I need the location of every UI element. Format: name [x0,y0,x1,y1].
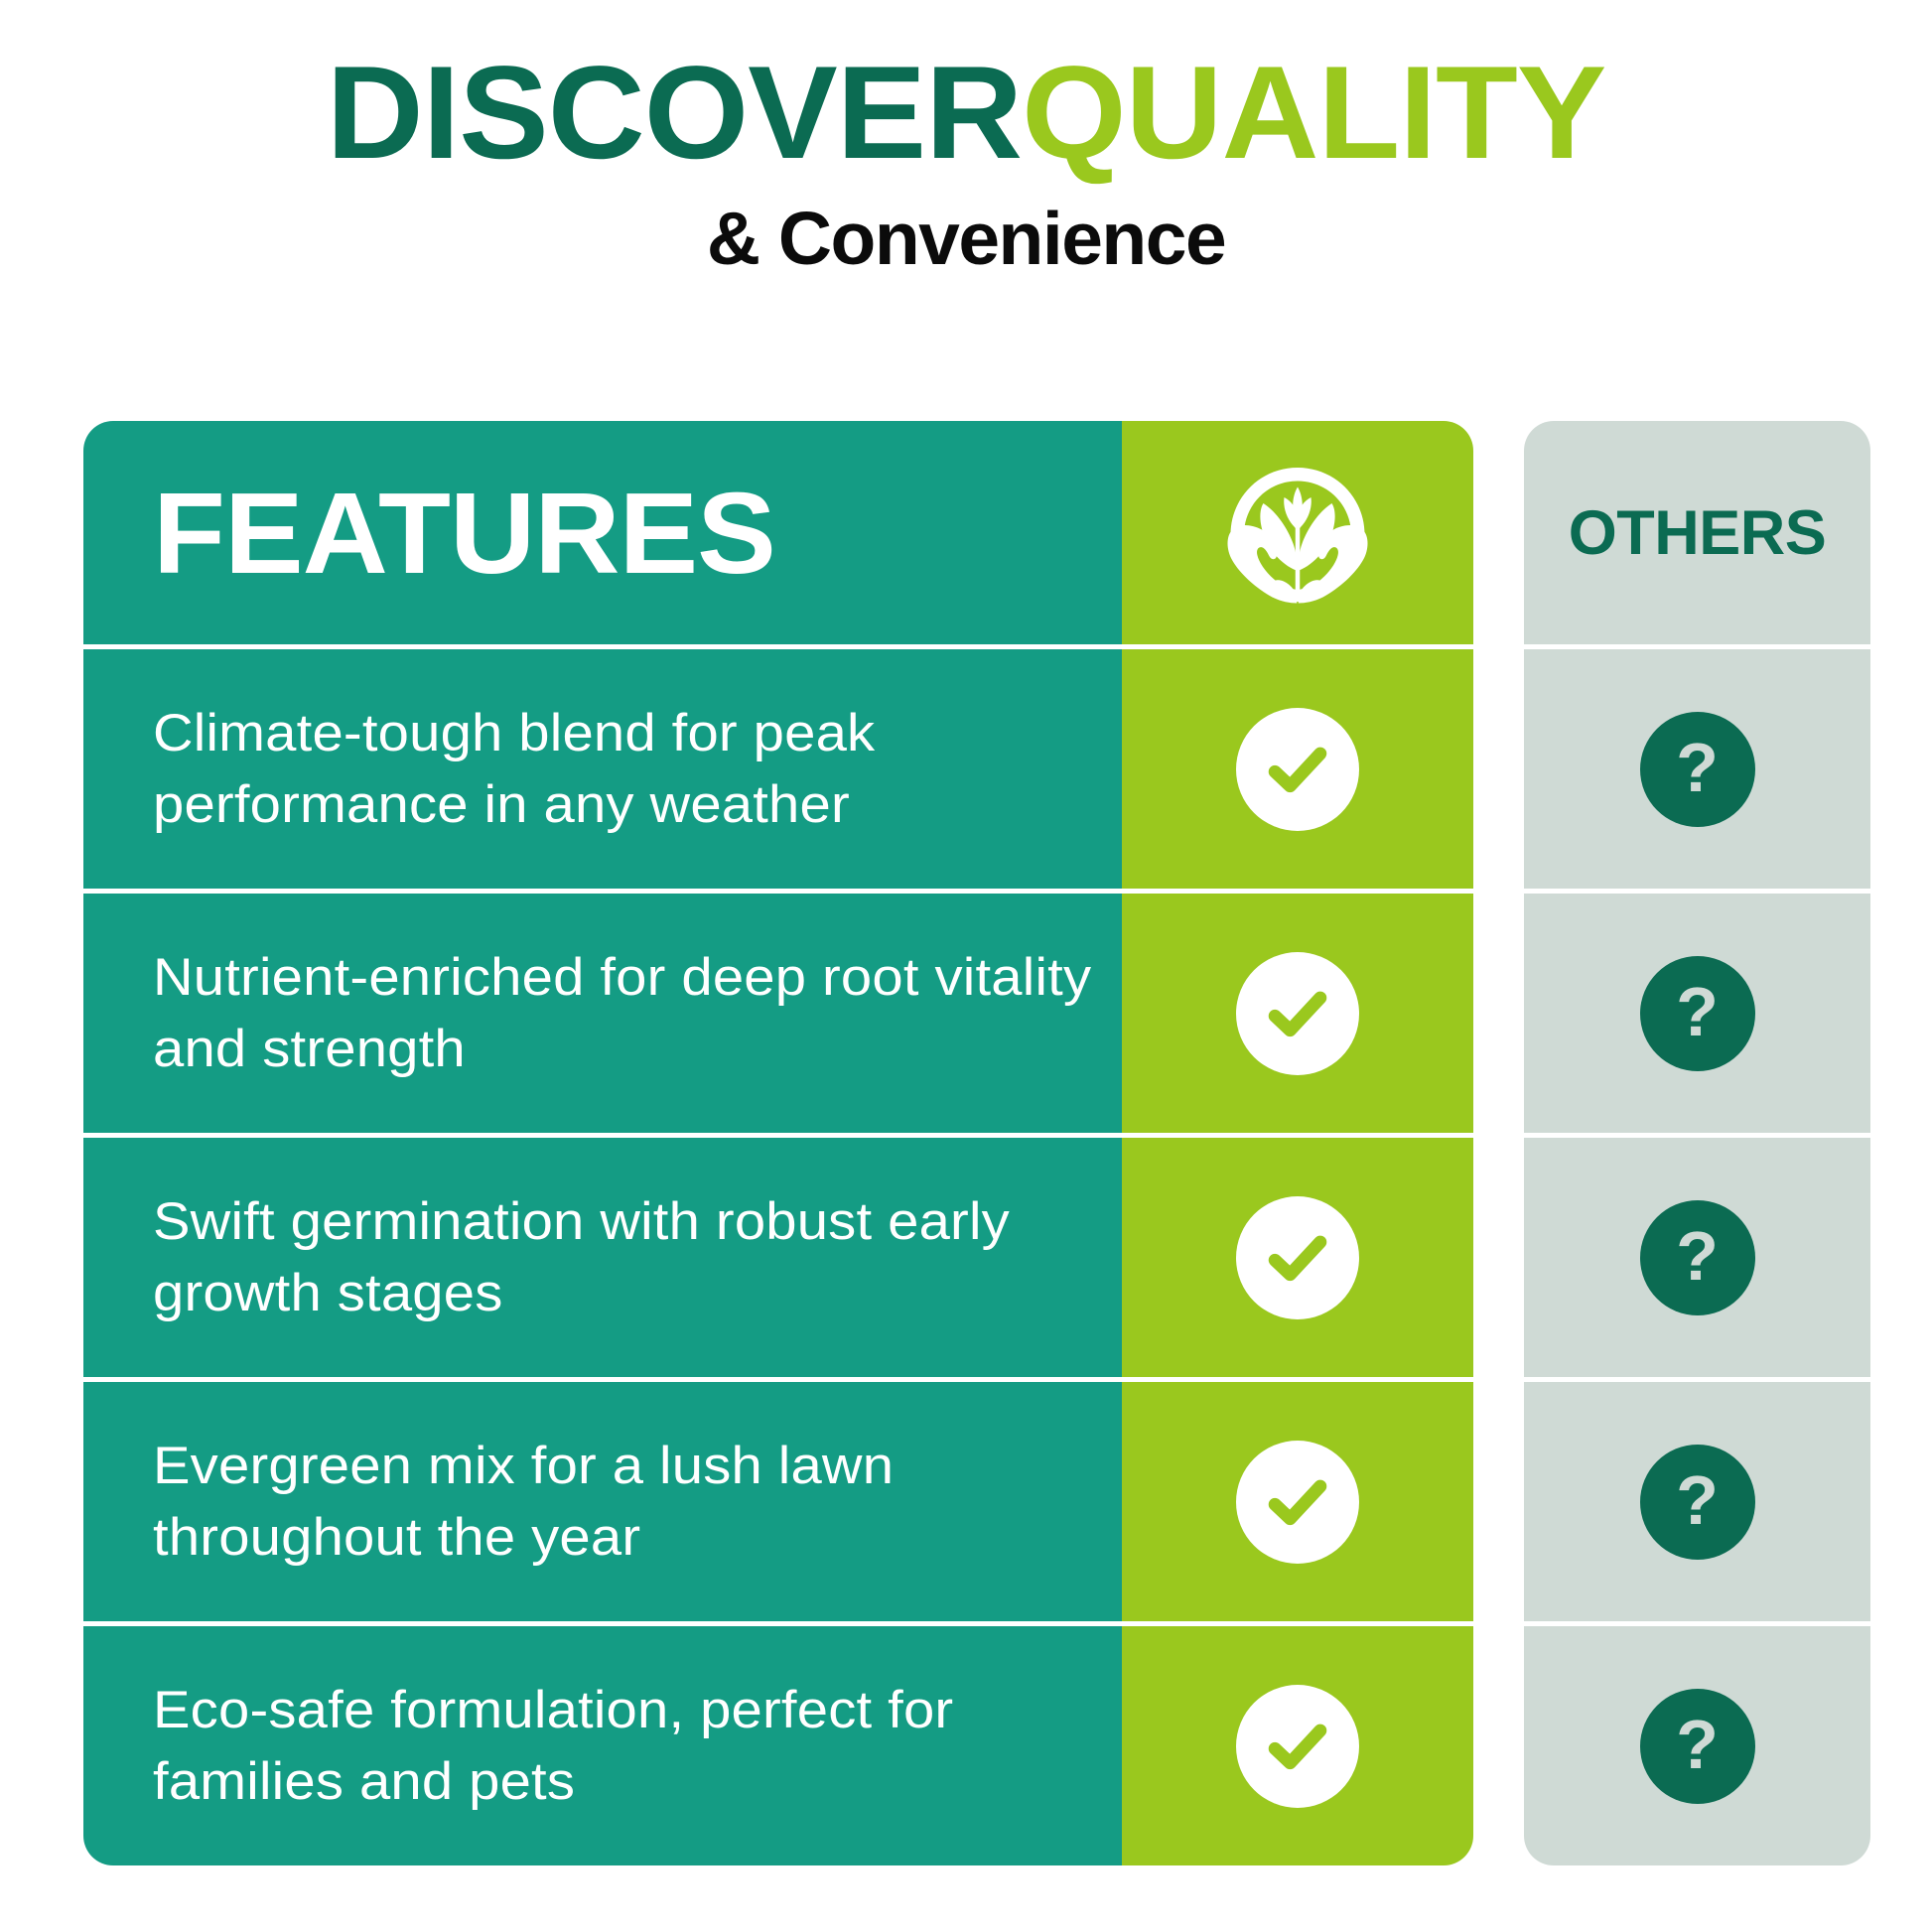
feature-row-4: Evergreen mix for a lush lawn throughout… [83,1377,1122,1621]
question-badge: ? [1640,1689,1755,1804]
main-headline: DISCOVERQUALITY [0,48,1932,180]
check-icon [1260,732,1335,807]
question-mark-icon: ? [1676,1710,1719,1779]
check-badge [1236,1685,1359,1808]
question-mark-icon: ? [1676,977,1719,1046]
question-mark-icon: ? [1676,1465,1719,1535]
question-mark-icon: ? [1676,1221,1719,1291]
feature-row-5: Eco-safe formulation, perfect for famili… [83,1621,1122,1865]
brand-column-header [1122,421,1473,644]
question-badge: ? [1640,956,1755,1071]
brand-mark-row-1 [1122,644,1473,889]
check-badge [1236,952,1359,1075]
feature-text: Swift germination with robust early grow… [153,1186,1138,1327]
feature-text: Eco-safe formulation, perfect for famili… [153,1675,1138,1816]
check-badge [1236,1196,1359,1319]
feature-row-2: Nutrient-enriched for deep root vitality… [83,889,1122,1133]
others-mark-row-3: ? [1524,1133,1870,1377]
check-badge [1236,1441,1359,1564]
feature-row-1: Climate-tough blend for peak performance… [83,644,1122,889]
features-header-label: FEATURES [153,476,775,591]
others-comparison-card: OTHERS ? ? ? ? [1524,421,1870,1865]
check-icon [1260,976,1335,1051]
brand-mark-row-3 [1122,1133,1473,1377]
others-mark-row-1: ? [1524,644,1870,889]
check-badge [1236,708,1359,831]
features-column-header: FEATURES [83,421,1122,644]
others-column-header: OTHERS [1524,421,1870,644]
others-mark-row-2: ? [1524,889,1870,1133]
features-column: FEATURES Climate-tough blend for peak pe… [83,421,1122,1865]
question-badge: ? [1640,1200,1755,1315]
check-icon [1260,1220,1335,1296]
question-badge: ? [1640,1445,1755,1560]
feature-row-3: Swift germination with robust early grow… [83,1133,1122,1377]
headline-word-discover: DISCOVER [327,40,1022,187]
brand-mark-row-4 [1122,1377,1473,1621]
brand-mark-row-5 [1122,1621,1473,1865]
others-mark-row-5: ? [1524,1621,1870,1865]
brand-comparison-card: FEATURES Climate-tough blend for peak pe… [83,421,1473,1865]
poster-canvas: DISCOVERQUALITY & Convenience FEATURES C… [0,0,1932,1932]
comparison-table: FEATURES Climate-tough blend for peak pe… [83,421,1870,1865]
question-mark-icon: ? [1676,733,1719,802]
question-badge: ? [1640,712,1755,827]
feature-text: Evergreen mix for a lush lawn throughout… [153,1431,1138,1572]
check-icon [1260,1464,1335,1540]
headline-word-quality: QUALITY [1022,40,1605,187]
plant-in-hands-logo-icon [1223,459,1372,608]
feature-text: Climate-tough blend for peak performance… [153,698,1138,839]
headline-block: DISCOVERQUALITY & Convenience [0,48,1932,276]
brand-mark-row-2 [1122,889,1473,1133]
check-icon [1260,1709,1335,1784]
brand-column [1122,421,1473,1865]
others-mark-row-4: ? [1524,1377,1870,1621]
others-header-label: OTHERS [1569,497,1827,569]
feature-text: Nutrient-enriched for deep root vitality… [153,942,1138,1083]
headline-subtitle: & Convenience [0,202,1932,276]
